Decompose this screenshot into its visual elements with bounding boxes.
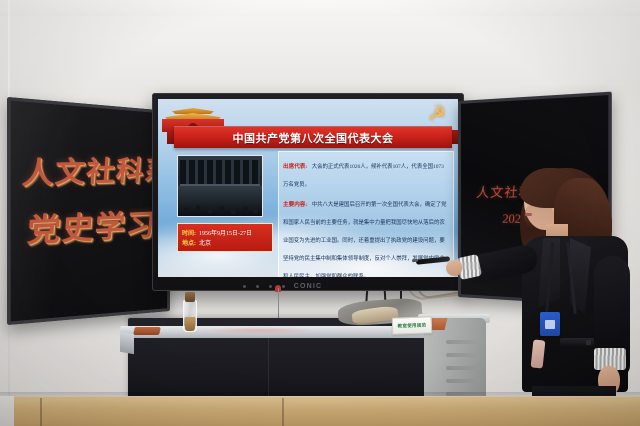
- meta-value-time: 1956年9月15日-27日: [199, 228, 252, 237]
- meta-key-place: 地点:: [182, 238, 196, 247]
- lectern-reflection: [200, 327, 320, 334]
- meta-row: 地点: 北京: [182, 238, 268, 247]
- left-hand: [446, 260, 462, 276]
- meta-row: 时间: 1956年9月15日-27日: [182, 228, 268, 237]
- chalk-line-2: 党史学习: [25, 201, 170, 252]
- microphone-cord: [278, 288, 279, 322]
- meta-value-place: 北京: [199, 238, 211, 247]
- classroom-photo-scene: 人文社科系 党史学习 ☭: [0, 0, 640, 426]
- photo-crowd: [178, 186, 262, 216]
- notice-sign-text: 教室使用规范: [397, 322, 426, 329]
- orange-tray: [133, 327, 161, 335]
- slide-meta-box: 时间: 1956年9月15日-27日 地点: 北京: [177, 223, 273, 252]
- slide-block: 出席代表: 大会的正式代表1026人，候补代表107人，代表全国1073万名党员…: [283, 155, 449, 191]
- desk-seam: [40, 398, 42, 426]
- blackboard-left-text: 人文社科系 党史学习: [23, 144, 170, 249]
- block-heading: 出席代表:: [283, 164, 307, 170]
- blackboard-left-panel: 人文社科系 党史学习: [7, 97, 170, 325]
- slide-title-text: 中国共产党第八次全国代表大会: [233, 130, 394, 146]
- foreground-desk: [0, 398, 640, 426]
- water-bottle: [183, 292, 197, 332]
- slide-block: 主要内容: 中共八大是建国后召开的第一次全国代表大会，确定了党和国家人民当前的主…: [283, 193, 449, 277]
- desk-seam: [282, 398, 284, 426]
- notice-sign: 教室使用规范: [392, 316, 433, 334]
- display-screen[interactable]: ☭ 中国共产党第八次全国代表大会 时间: 1956年9月15日-27日: [158, 99, 458, 277]
- presentation-slide: ☭ 中国共产党第八次全国代表大会 时间: 1956年9月15日-27日: [158, 99, 458, 277]
- desk-left-wall: [0, 396, 14, 426]
- block-heading: 主要内容:: [283, 202, 307, 208]
- wall-highlight: [0, 0, 640, 90]
- meta-key-time: 时间:: [182, 228, 196, 237]
- hammer-sickle-icon: ☭: [426, 103, 448, 125]
- id-badge: [540, 312, 560, 336]
- display-brand-logo: CONIC: [294, 283, 323, 290]
- block-body: 大会的正式代表1026人，候补代表107人，代表全国1073万名党员。: [283, 164, 444, 188]
- lips: [525, 213, 532, 216]
- photo-stage: [180, 160, 260, 186]
- historical-photo: [177, 155, 263, 217]
- badge-window: [545, 320, 555, 329]
- blazer-button: [586, 340, 591, 345]
- lectern-left-edge: [120, 332, 134, 354]
- title-ribbon-right: [451, 130, 458, 144]
- chalk-line-1: 人文社科系: [21, 149, 170, 193]
- block-body: 中共八大是建国后召开的第一次全国代表大会，确定了党和国家人民当前的主要任务，就是…: [283, 202, 446, 277]
- slide-title: 中国共产党第八次全国代表大会: [174, 126, 452, 148]
- bottle-cap: [185, 292, 195, 302]
- presenter: [498, 160, 640, 426]
